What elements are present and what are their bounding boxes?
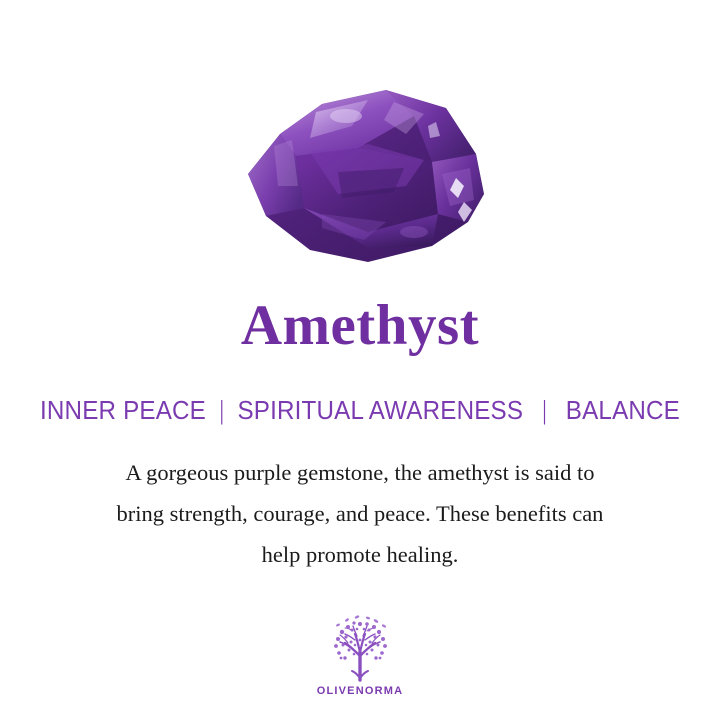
keyword-separator: |	[536, 396, 553, 425]
keyword-spiritual-awareness: SPIRITUAL AWARENESS	[237, 395, 523, 425]
page-title: Amethyst	[0, 296, 720, 356]
product-image-stage	[0, 78, 720, 278]
brand-logo: OLIVENORMA	[0, 612, 720, 697]
description-line: help promote healing.	[50, 534, 670, 575]
amethyst-raw-crystal-icon	[218, 82, 494, 270]
tree-of-life-icon	[324, 612, 396, 684]
keyword-separator: |	[216, 396, 227, 425]
amethyst-info-card: Amethyst INNER PEACE | SPIRITUAL AWARENE…	[0, 0, 720, 720]
keyword-tagline: INNER PEACE | SPIRITUAL AWARENESS | BALA…	[25, 396, 695, 425]
description-line: bring strength, courage, and peace. Thes…	[50, 493, 670, 534]
keyword-inner-peace: INNER PEACE	[40, 395, 206, 425]
keyword-balance: BALANCE	[566, 395, 680, 425]
description-line: A gorgeous purple gemstone, the amethyst…	[50, 452, 670, 493]
brand-name: OLIVENORMA	[0, 685, 720, 697]
description-text: A gorgeous purple gemstone, the amethyst…	[50, 452, 670, 575]
